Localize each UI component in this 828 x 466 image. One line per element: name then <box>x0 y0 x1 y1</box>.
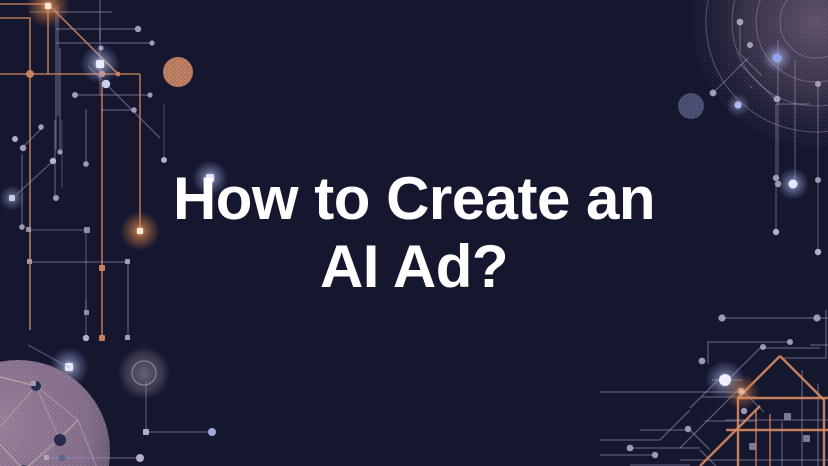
title-line-2: AI Ad? <box>320 233 508 301</box>
slide-canvas: How to Create an AI Ad? <box>0 0 828 466</box>
title-line-1: How to Create an <box>173 165 655 233</box>
title-block: How to Create an AI Ad? <box>0 0 828 466</box>
